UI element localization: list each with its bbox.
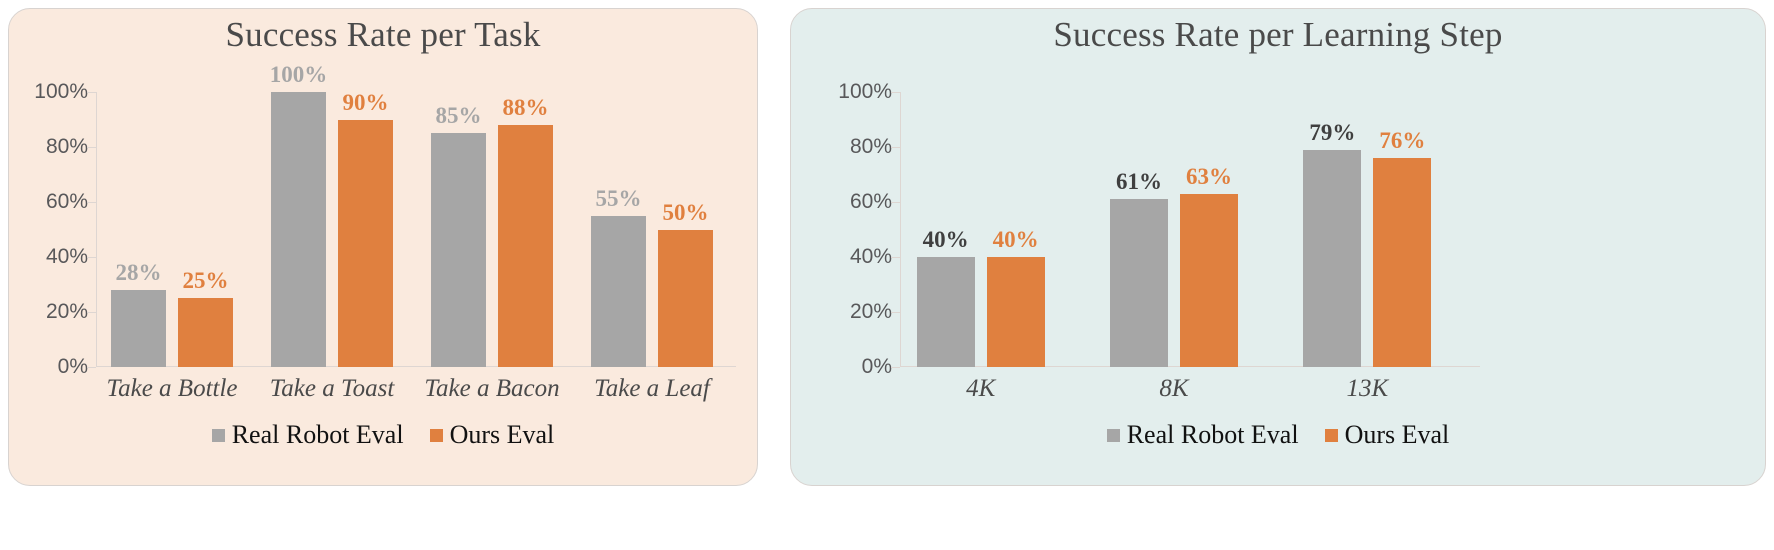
y-axis-tick-label: 100% bbox=[838, 80, 892, 104]
bar-take-a-bottle-real-robot-eval[interactable] bbox=[111, 290, 166, 367]
bar-take-a-toast-real-robot-eval[interactable] bbox=[271, 92, 326, 367]
bar-4k-ours-eval[interactable] bbox=[987, 257, 1045, 367]
bar-value-label: 25% bbox=[183, 268, 229, 294]
legend-item-label: Ours Eval bbox=[1345, 420, 1450, 450]
figure-root: Success Rate per Task 0%20%40%60%80%100%… bbox=[0, 0, 1774, 550]
bar-value-label: 100% bbox=[270, 62, 328, 88]
y-axis-tick bbox=[87, 257, 96, 258]
bar-take-a-leaf-real-robot-eval[interactable] bbox=[591, 216, 646, 367]
bar-take-a-bacon-real-robot-eval[interactable] bbox=[431, 133, 486, 367]
legend-item-label: Real Robot Eval bbox=[232, 420, 404, 450]
y-axis-tick bbox=[87, 202, 96, 203]
bar-take-a-bacon-ours-eval[interactable] bbox=[498, 125, 553, 367]
y-axis-tick-label: 80% bbox=[850, 135, 892, 159]
bar-take-a-leaf-ours-eval[interactable] bbox=[658, 230, 713, 368]
y-axis-tick-label: 60% bbox=[46, 190, 88, 214]
y-axis-line bbox=[900, 92, 901, 367]
y-axis-line bbox=[96, 92, 97, 367]
legend-item[interactable]: Real Robot Eval bbox=[1107, 420, 1299, 450]
bar-take-a-bottle-ours-eval[interactable] bbox=[178, 298, 233, 367]
y-axis-tick bbox=[87, 367, 96, 368]
x-axis-labels-learning-step: 4K8K13K bbox=[900, 375, 1480, 411]
y-axis-tick bbox=[891, 92, 900, 93]
bar-value-label: 63% bbox=[1186, 164, 1232, 190]
bar-4k-real-robot-eval[interactable] bbox=[917, 257, 975, 367]
x-axis-category-label: Take a Bottle bbox=[106, 375, 237, 403]
y-axis-tick-label: 80% bbox=[46, 135, 88, 159]
legend-item[interactable]: Real Robot Eval bbox=[212, 420, 404, 450]
y-axis-tick-label: 40% bbox=[850, 245, 892, 269]
bar-value-label: 90% bbox=[343, 90, 389, 116]
bar-value-label: 61% bbox=[1116, 169, 1162, 195]
y-axis-tick bbox=[891, 367, 900, 368]
orange-square-icon bbox=[1325, 429, 1338, 442]
bar-value-label: 40% bbox=[993, 227, 1039, 253]
y-axis-labels-task: 0%20%40%60%80%100% bbox=[0, 92, 88, 367]
x-axis-category-label: 8K bbox=[1159, 375, 1188, 403]
bar-8k-ours-eval[interactable] bbox=[1180, 194, 1238, 367]
x-axis-category-label: Take a Toast bbox=[270, 375, 395, 403]
chart-title-learning-step: Success Rate per Learning Step bbox=[791, 15, 1765, 55]
y-axis-tick bbox=[891, 202, 900, 203]
bar-value-label: 28% bbox=[116, 260, 162, 286]
legend-learning-step: Real Robot EvalOurs Eval bbox=[790, 420, 1766, 450]
x-axis-category-label: Take a Bacon bbox=[424, 375, 559, 403]
bar-value-label: 40% bbox=[923, 227, 969, 253]
y-axis-tick-label: 0% bbox=[862, 355, 892, 379]
y-axis-tick-label: 40% bbox=[46, 245, 88, 269]
gray-square-icon bbox=[212, 429, 225, 442]
bar-value-label: 76% bbox=[1379, 128, 1425, 154]
bar-13k-real-robot-eval[interactable] bbox=[1303, 150, 1361, 367]
x-axis-category-label: 13K bbox=[1346, 375, 1388, 403]
bar-value-label: 88% bbox=[503, 95, 549, 121]
plot-area-learning-step: 40%40%61%63%79%76% bbox=[900, 92, 1480, 367]
bar-13k-ours-eval[interactable] bbox=[1373, 158, 1431, 367]
bar-take-a-toast-ours-eval[interactable] bbox=[338, 120, 393, 368]
y-axis-tick-label: 100% bbox=[34, 80, 88, 104]
y-axis-tick-label: 20% bbox=[46, 300, 88, 324]
legend-task: Real Robot EvalOurs Eval bbox=[8, 420, 758, 450]
y-axis-tick bbox=[891, 312, 900, 313]
x-axis-category-label: Take a Leaf bbox=[594, 375, 710, 403]
bar-8k-real-robot-eval[interactable] bbox=[1110, 199, 1168, 367]
legend-item-label: Ours Eval bbox=[450, 420, 555, 450]
y-axis-tick bbox=[891, 147, 900, 148]
gray-square-icon bbox=[1107, 429, 1120, 442]
bar-value-label: 85% bbox=[436, 103, 482, 129]
y-axis-tick-label: 20% bbox=[850, 300, 892, 324]
y-axis-labels-learning-step: 0%20%40%60%80%100% bbox=[800, 92, 892, 367]
bar-value-label: 79% bbox=[1309, 120, 1355, 146]
x-axis-category-label: 4K bbox=[966, 375, 995, 403]
bar-value-label: 50% bbox=[663, 200, 709, 226]
legend-item[interactable]: Ours Eval bbox=[430, 420, 555, 450]
bar-value-label: 55% bbox=[596, 186, 642, 212]
y-axis-tick bbox=[87, 147, 96, 148]
legend-item-label: Real Robot Eval bbox=[1127, 420, 1299, 450]
y-axis-tick bbox=[87, 92, 96, 93]
chart-title-task: Success Rate per Task bbox=[9, 15, 757, 55]
y-axis-tick bbox=[891, 257, 900, 258]
orange-square-icon bbox=[430, 429, 443, 442]
legend-item[interactable]: Ours Eval bbox=[1325, 420, 1450, 450]
y-axis-tick-label: 0% bbox=[58, 355, 88, 379]
x-axis-labels-task: Take a BottleTake a ToastTake a BaconTak… bbox=[96, 375, 736, 411]
plot-area-task: 28%25%100%90%85%88%55%50% bbox=[96, 92, 736, 367]
y-axis-tick-label: 60% bbox=[850, 190, 892, 214]
y-axis-tick bbox=[87, 312, 96, 313]
